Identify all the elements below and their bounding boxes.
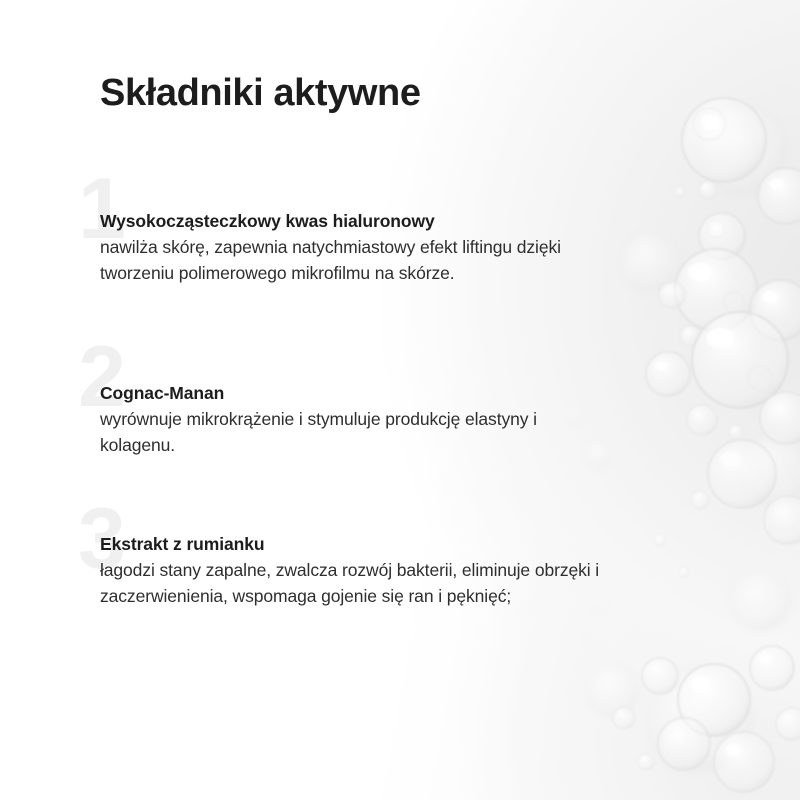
ingredient-item: Cognac-Manan wyrównuje mikrokrążenie i s… bbox=[100, 382, 620, 458]
ingredient-item: Wysokocząsteczkowy kwas hialuronowy nawi… bbox=[100, 210, 620, 286]
ingredient-item: Ekstrakt z rumianku łagodzi stany zapaln… bbox=[100, 533, 620, 609]
ingredient-description: łagodzi stany zapalne, zwalcza rozwój ba… bbox=[100, 558, 600, 608]
ingredients-poster: 1 2 3 Składniki aktywne Wysokocząsteczko… bbox=[0, 0, 800, 800]
ingredient-name: Ekstrakt z rumianku bbox=[100, 533, 620, 555]
ingredient-name: Cognac-Manan bbox=[100, 382, 620, 404]
ingredient-description: wyrównuje mikrokrążenie i stymuluje prod… bbox=[100, 407, 600, 457]
page-title: Składniki aktywne bbox=[100, 72, 421, 115]
content-layer: Składniki aktywne Wysokocząsteczkowy kwa… bbox=[0, 0, 800, 800]
ingredient-name: Wysokocząsteczkowy kwas hialuronowy bbox=[100, 210, 620, 232]
ingredient-description: nawilża skórę, zapewnia natychmiastowy e… bbox=[100, 235, 600, 285]
